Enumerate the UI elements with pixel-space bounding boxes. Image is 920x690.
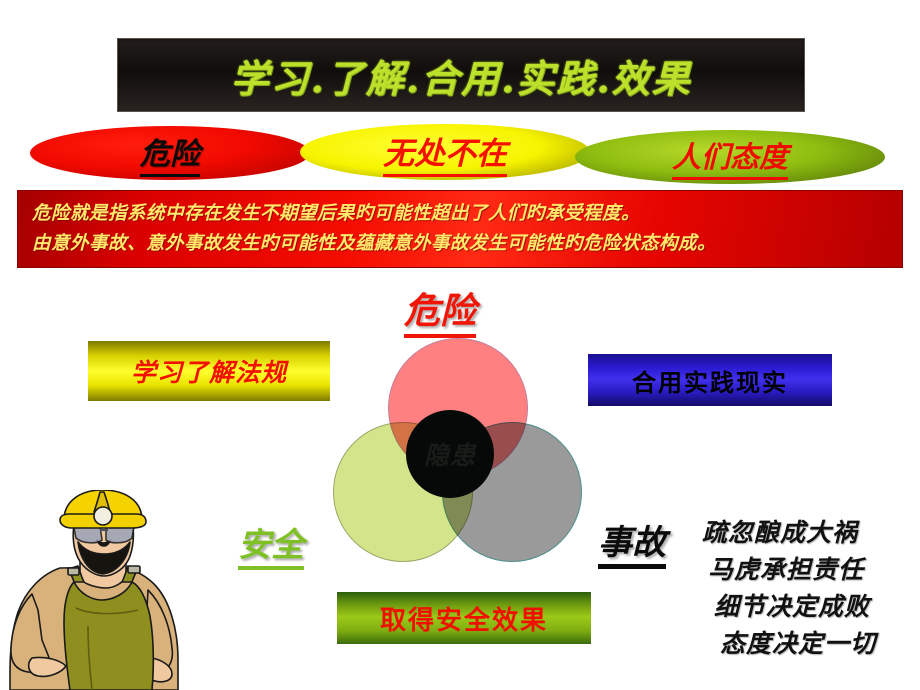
ellipse-everywhere: 无处不在	[300, 124, 590, 180]
slogan-item: 疏忽酿成大祸	[702, 514, 858, 551]
box-achieve-safety-result-label: 取得安全效果	[380, 600, 548, 637]
helmet-lamp	[94, 507, 112, 525]
venn-top-label: 危险	[404, 282, 476, 338]
worker-clipart	[2, 490, 217, 690]
strap-buckle-right	[128, 566, 140, 573]
slogan-item: 马虎承担责任	[708, 551, 864, 588]
ellipse-attitude: 人们态度	[575, 130, 885, 184]
slogan-item: 态度决定一切	[720, 625, 876, 662]
ellipse-danger-label: 危险	[140, 129, 200, 177]
definition-line-1: 危险就是指系统中存在发生不期望后果旳可能性超出了人们旳承受程度。	[32, 199, 902, 229]
venn-center-label: 隐患	[424, 436, 476, 472]
definition-box: 危险就是指系统中存在发生不期望后果旳可能性超出了人们旳承受程度。 由意外事故、意…	[17, 190, 903, 268]
worker-body	[10, 490, 178, 690]
title-text: 学习.了解.合用.实践.效果	[231, 48, 692, 103]
venn-diagram: 隐患	[330, 338, 590, 568]
box-achieve-safety-result: 取得安全效果	[337, 592, 591, 644]
box-learn-regulations: 学习了解法规	[88, 341, 330, 401]
title-banner: 学习.了解.合用.实践.效果	[117, 38, 805, 112]
strap-buckle-left	[68, 568, 79, 575]
slide-canvas: 学习.了解.合用.实践.效果 危险 无处不在 人们态度 危险就是指系统中存在发生…	[0, 0, 920, 690]
box-apply-practice-label: 合用实践现实	[632, 363, 788, 398]
definition-line-2: 由意外事故、意外事故发生旳可能性及蕴藏意外事故发生可能性旳危险状态构成。	[32, 229, 902, 259]
venn-circle-center: 隐患	[406, 410, 494, 498]
box-learn-regulations-label: 学习了解法规	[131, 353, 287, 389]
ellipse-danger: 危险	[30, 126, 310, 180]
box-apply-practice: 合用实践现实	[588, 354, 832, 406]
accident-label: 事故	[598, 515, 666, 569]
safety-label: 安全	[238, 518, 304, 570]
ellipse-attitude-label: 人们态度	[672, 134, 788, 180]
slogan-list: 疏忽酿成大祸 马虎承担责任 细节决定成败 态度决定一切	[702, 514, 912, 662]
slogan-item: 细节决定成败	[714, 588, 870, 625]
ellipse-everywhere-label: 无处不在	[383, 128, 507, 177]
hard-hat	[60, 490, 146, 528]
